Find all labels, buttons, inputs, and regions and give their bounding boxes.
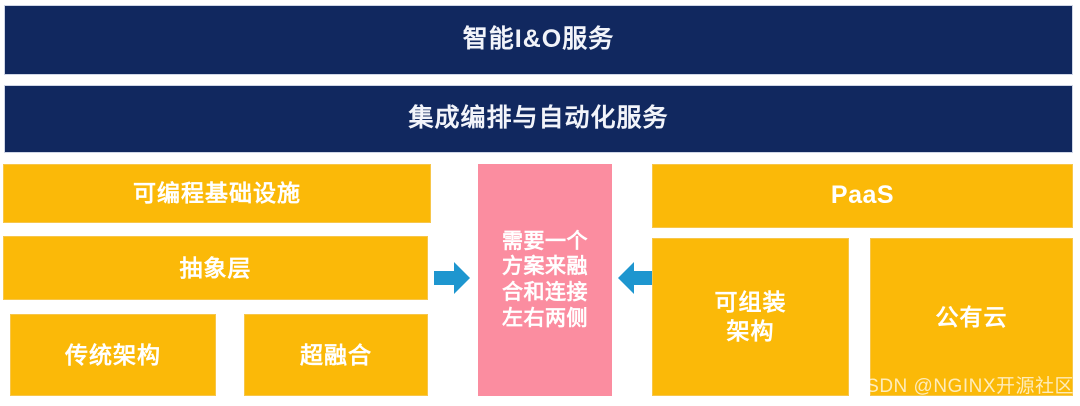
box-composable-architecture: 可组装 架构	[652, 238, 849, 396]
box-composable-architecture-line-2: 架构	[727, 318, 775, 344]
banner-integrated-orchestration-automation-service-label: 集成编排与自动化服务	[408, 105, 668, 133]
box-composable-architecture-label: 可组装 架构	[715, 288, 787, 346]
box-paas: PaaS	[652, 164, 1073, 228]
banner-intelligent-io-service: 智能I&O服务	[4, 5, 1073, 75]
box-abstraction-layer-label: 抽象层	[180, 254, 252, 283]
banner-integrated-orchestration-automation-service: 集成编排与自动化服务	[4, 85, 1073, 153]
box-traditional-architecture: 传统架构	[10, 314, 216, 396]
box-composable-architecture-line-1: 可组装	[715, 289, 787, 315]
box-center-bridge-line-2: 方案来融	[502, 254, 588, 280]
box-center-bridge-label: 需要一个 方案来融 合和连接 左右两侧	[498, 229, 592, 331]
box-paas-label: PaaS	[831, 180, 894, 211]
box-center-bridge: 需要一个 方案来融 合和连接 左右两侧	[478, 164, 612, 396]
box-public-cloud-label: 公有云	[936, 303, 1008, 332]
box-center-bridge-line-4: 左右两侧	[502, 306, 588, 332]
box-programmable-infrastructure: 可编程基础设施	[3, 164, 431, 223]
box-traditional-architecture-label: 传统架构	[65, 341, 161, 370]
box-center-bridge-line-1: 需要一个	[502, 229, 588, 255]
box-hyperconverged: 超融合	[244, 314, 428, 396]
box-hyperconverged-label: 超融合	[300, 341, 372, 370]
box-public-cloud: 公有云	[870, 238, 1073, 396]
box-programmable-infrastructure-label: 可编程基础设施	[133, 179, 301, 208]
diagram-canvas: 智能I&O服务 集成编排与自动化服务 可编程基础设施 抽象层 传统架构 超融合 …	[0, 0, 1080, 406]
box-abstraction-layer: 抽象层	[3, 236, 428, 300]
banner-intelligent-io-service-label: 智能I&O服务	[463, 26, 614, 54]
arrow-right-icon	[430, 256, 474, 300]
box-center-bridge-line-3: 合和连接	[502, 280, 588, 306]
